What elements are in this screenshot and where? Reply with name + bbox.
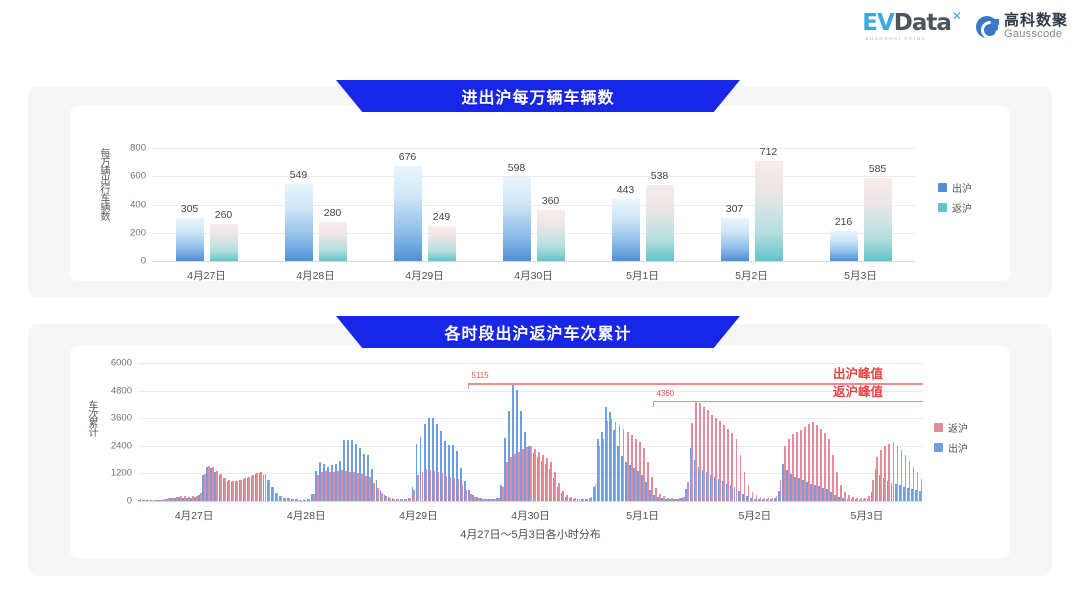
x-axis-tick: 4月27日 bbox=[175, 508, 214, 523]
bar-value-label: 249 bbox=[433, 211, 451, 223]
y-axis-tick: 4800 bbox=[111, 385, 132, 396]
annotation-label-0: 出沪峰值 bbox=[833, 363, 883, 382]
y-axis-tick: 2400 bbox=[111, 440, 132, 451]
legend-label: 出沪 bbox=[952, 180, 972, 195]
y-axis-tick: 3600 bbox=[111, 413, 132, 424]
bar-value-label: 598 bbox=[508, 162, 526, 174]
hist-chart-x-axis-label: 4月27日～5月3日各小时分布 bbox=[460, 526, 601, 542]
x-axis-tick: 5月3日 bbox=[851, 508, 884, 523]
page-root: EV Data ✕ SHANGHAI CHINA 高科数聚 Gausscode … bbox=[0, 0, 1080, 608]
gausscode-text: 高科数聚 Gausscode bbox=[1004, 13, 1068, 40]
x-axis-tick: 4月28日 bbox=[287, 508, 326, 523]
chart-title-banner-2: 各时段出沪返沪车次累计 bbox=[336, 316, 740, 348]
bar-value-label: 443 bbox=[617, 184, 635, 196]
y-axis-tick: 0 bbox=[127, 496, 132, 507]
annotation-label-1: 返沪峰值 bbox=[833, 381, 883, 400]
legend-swatch bbox=[934, 443, 943, 452]
bar-value-label: 260 bbox=[215, 209, 233, 221]
bar-ret-1 bbox=[319, 222, 347, 262]
gausscode-cn-name: 高科数聚 bbox=[1004, 13, 1068, 29]
legend-label: 返沪 bbox=[952, 200, 972, 215]
bar-out-2 bbox=[394, 166, 422, 261]
bar-value-label: 538 bbox=[651, 170, 669, 182]
gridline-4800 bbox=[138, 391, 923, 392]
gridline-600 bbox=[152, 176, 915, 177]
gridline-6000 bbox=[138, 363, 923, 364]
bar-value-label: 360 bbox=[542, 195, 560, 207]
x-axis-tick: 5月2日 bbox=[738, 508, 771, 523]
evdata-ev-text: EV bbox=[862, 12, 894, 35]
gridline-3600 bbox=[138, 418, 923, 419]
x-axis-tick: 5月1日 bbox=[626, 508, 659, 523]
bar-value-label: 216 bbox=[835, 216, 853, 228]
bar-out-4 bbox=[612, 199, 640, 262]
evdata-subtitle: SHANGHAI CHINA bbox=[865, 37, 926, 42]
bar-value-label: 280 bbox=[324, 207, 342, 219]
y-axis-tick: 400 bbox=[130, 199, 146, 210]
gausscode-logo: 高科数聚 Gausscode bbox=[976, 13, 1068, 40]
annotation-stem-1 bbox=[653, 401, 654, 407]
x-axis-tick: 4月28日 bbox=[296, 268, 335, 283]
evdata-logo: EV Data ✕ SHANGHAI CHINA bbox=[862, 12, 962, 42]
brand-bar: EV Data ✕ SHANGHAI CHINA 高科数聚 Gausscode bbox=[862, 12, 1068, 42]
legend-item-返沪[interactable]: 返沪 bbox=[938, 200, 972, 215]
legend-item-返沪[interactable]: 返沪 bbox=[934, 420, 968, 435]
bar-out-6 bbox=[830, 231, 858, 262]
gridline-400 bbox=[152, 205, 915, 206]
bar-chart-plot-area: 02004006008003052604月27日5492804月28日67624… bbox=[152, 141, 915, 261]
gridline-800 bbox=[152, 148, 915, 149]
bar-ret-5 bbox=[755, 161, 783, 262]
bar-out-0 bbox=[176, 218, 204, 261]
bar-out-5 bbox=[721, 218, 749, 261]
evdata-data-text: Data bbox=[894, 12, 951, 35]
bar-out-1 bbox=[285, 184, 313, 262]
y-axis-tick: 6000 bbox=[111, 358, 132, 369]
bar-value-label: 305 bbox=[181, 203, 199, 215]
y-axis-tick: 1200 bbox=[111, 468, 132, 479]
chart-title-banner-1: 进出沪每万辆车辆数 bbox=[336, 80, 740, 112]
evdata-wordmark: EV Data ✕ bbox=[862, 12, 962, 35]
y-axis-tick: 600 bbox=[130, 171, 146, 182]
gridline-0 bbox=[138, 501, 923, 502]
bar-value-label: 676 bbox=[399, 151, 417, 163]
bar-ret-3 bbox=[537, 210, 565, 261]
x-axis-tick: 5月2日 bbox=[735, 268, 768, 283]
bar-chart-y-axis-label: 每万辆出行车辆数 bbox=[96, 148, 111, 256]
x-axis-tick: 4月30日 bbox=[514, 268, 553, 283]
legend-swatch bbox=[938, 183, 947, 192]
legend-swatch bbox=[938, 203, 947, 212]
bar-value-label: 307 bbox=[726, 203, 744, 215]
gridline-0 bbox=[152, 261, 915, 262]
x-axis-tick: 4月29日 bbox=[399, 508, 438, 523]
legend-item-出沪[interactable]: 出沪 bbox=[938, 180, 972, 195]
bar-value-label: 585 bbox=[869, 163, 887, 175]
legend-label: 返沪 bbox=[948, 420, 968, 435]
bar-out-3 bbox=[503, 177, 531, 261]
legend-label: 出沪 bbox=[948, 440, 968, 455]
x-axis-tick: 5月3日 bbox=[844, 268, 877, 283]
annotation-stem-0 bbox=[468, 383, 469, 389]
legend-swatch bbox=[934, 423, 943, 432]
bar-value-label: 549 bbox=[290, 169, 308, 181]
bar-ret-0 bbox=[210, 224, 238, 261]
annotation-line-1 bbox=[653, 401, 923, 402]
gridline-200 bbox=[152, 233, 915, 234]
y-axis-tick: 200 bbox=[130, 227, 146, 238]
x-axis-tick: 5月1日 bbox=[626, 268, 659, 283]
gausscode-mark-icon bbox=[976, 16, 998, 38]
annotation-value-0: 5115 bbox=[471, 371, 488, 380]
bar-ret-6 bbox=[864, 178, 892, 261]
legend-item-出沪[interactable]: 出沪 bbox=[934, 440, 968, 455]
x-axis-tick: 4月30日 bbox=[511, 508, 550, 523]
bar-chart-legend[interactable]: 出沪返沪 bbox=[938, 180, 972, 215]
gausscode-en-name: Gausscode bbox=[1004, 29, 1068, 41]
bar-ret-4 bbox=[646, 185, 674, 261]
hist-chart-y-axis-label: 车次累计 bbox=[84, 400, 99, 470]
hist-chart-plot-area: 0120024003600480060004月27日4月28日4月29日4月30… bbox=[138, 363, 923, 501]
x-axis-tick: 4月29日 bbox=[405, 268, 444, 283]
hist-chart-legend[interactable]: 返沪出沪 bbox=[934, 420, 968, 455]
x-axis-tick: 4月27日 bbox=[187, 268, 226, 283]
y-axis-tick: 0 bbox=[141, 256, 146, 267]
annotation-value-1: 4360 bbox=[656, 389, 674, 398]
bar-ret-2 bbox=[428, 226, 456, 261]
evdata-x-icon: ✕ bbox=[952, 10, 962, 22]
hist-bar-ret bbox=[921, 479, 923, 501]
y-axis-tick: 800 bbox=[130, 143, 146, 154]
bar-value-label: 712 bbox=[760, 146, 778, 158]
